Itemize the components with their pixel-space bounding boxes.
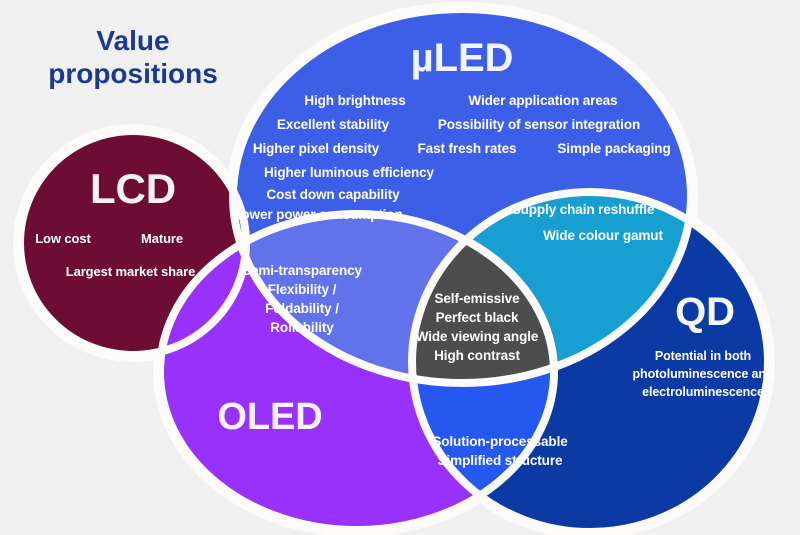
venn-diagram-canvas: Value propositions LCD Low cost Mature L…	[0, 0, 800, 535]
page-title: Value propositions	[28, 24, 238, 90]
